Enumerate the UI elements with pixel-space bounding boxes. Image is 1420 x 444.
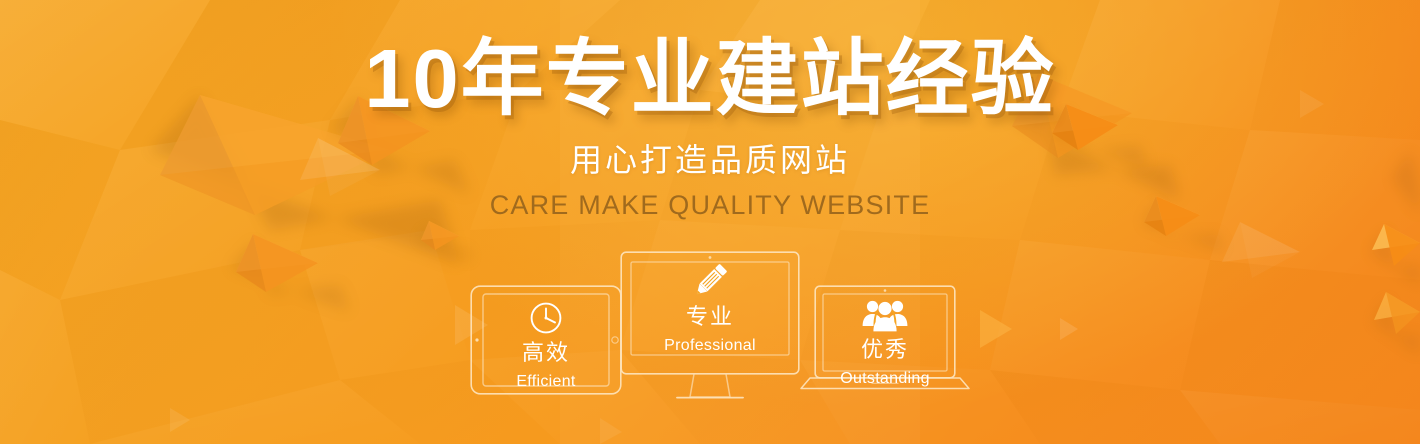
subtitle-chinese: 用心打造品质网站 — [570, 143, 850, 178]
hero-banner: 10年专业建站经验 用心打造品质网站 CARE MAKE QUALITY WEB… — [0, 0, 1420, 444]
feature-card-professional[interactable]: 专业 Professional — [620, 251, 800, 411]
people-group-icon — [862, 298, 908, 332]
pencil-icon — [688, 259, 732, 303]
clock-icon — [529, 301, 563, 335]
feature-card-efficient[interactable]: 高效 Efficient — [470, 285, 622, 395]
subtitle-english: CARE MAKE QUALITY WEBSITE — [490, 191, 931, 221]
feature-card-outstanding[interactable]: 优秀 Outstanding — [800, 285, 970, 403]
feature-device-group: 高效 Efficient — [0, 249, 1420, 414]
page-title: 10年专业建站经验 — [364, 37, 1055, 120]
